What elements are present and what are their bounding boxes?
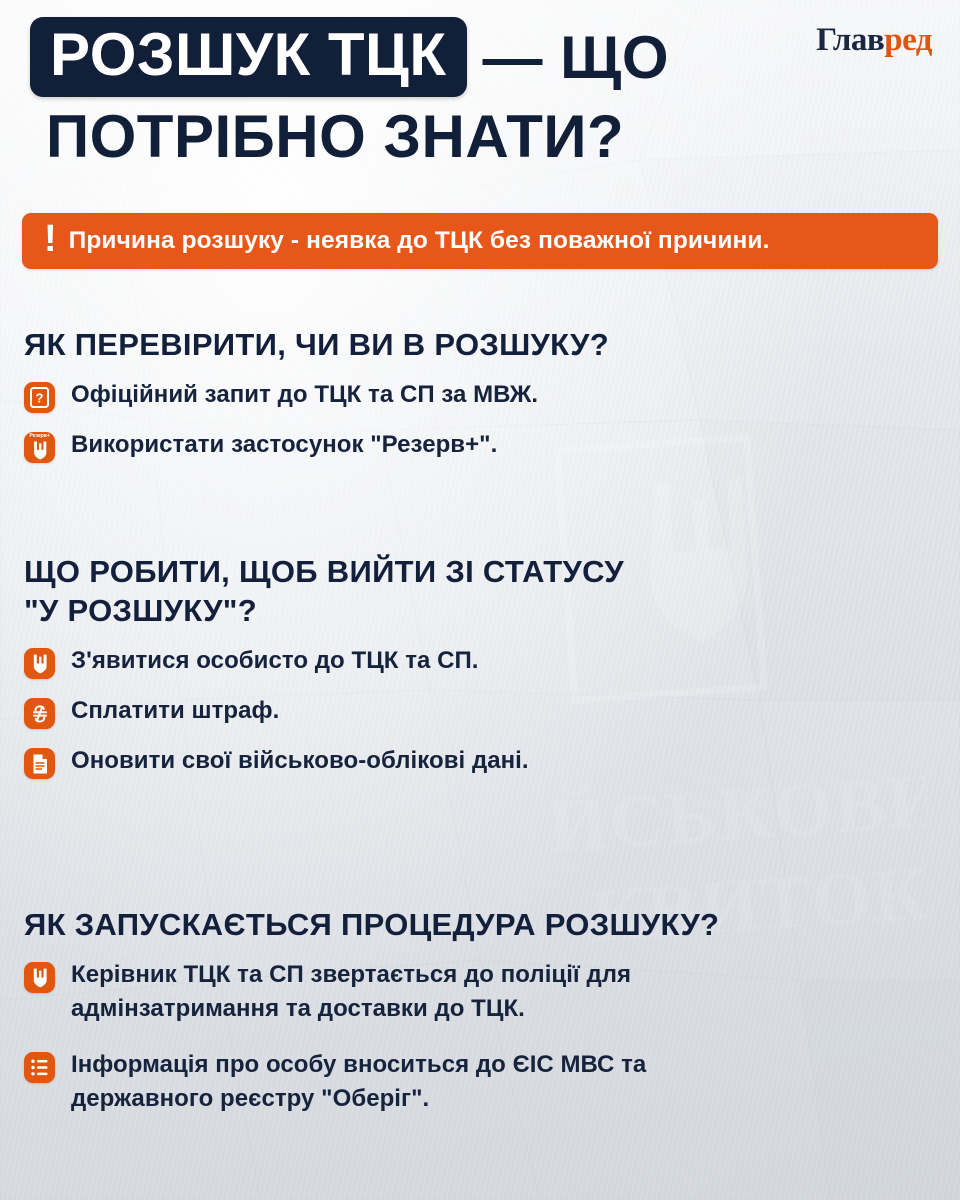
list-item-text: Сплатити штраф. <box>71 694 279 728</box>
list-item-text: Офіційний запит до ТЦК та СП за МВЖ. <box>71 378 538 412</box>
trident-icon <box>24 648 55 679</box>
hryvnia-icon <box>24 698 55 729</box>
list-item: Сплатити штраф. <box>24 694 944 729</box>
reserv-plus-app-icon: Резерв+ <box>24 432 55 463</box>
svg-text:?: ? <box>36 391 44 406</box>
list-item: Оновити свої військово-облікові дані. <box>24 744 944 779</box>
glavred-logo[interactable]: Главред <box>816 24 932 57</box>
document-icon <box>24 748 55 779</box>
infographic-poster: ЙСЬКОВИЙ КВИТОК РОЗШУК ТЦК — ЩО ПОТРІБНО… <box>0 0 960 1200</box>
list-item-text: Інформація про особу вноситься до ЄІС МВ… <box>71 1048 646 1116</box>
section-how-to-exit-status: ЩО РОБИТИ, ЩОБ ВИЙТИ ЗІ СТАТУСУ "У РОЗШУ… <box>24 552 944 794</box>
list-item-text: З'явитися особисто до ТЦК та СП. <box>71 644 479 678</box>
title-line-2: ПОТРІБНО ЗНАТИ? <box>46 105 624 168</box>
list-item-text: Оновити свої військово-облікові дані. <box>71 744 529 778</box>
reserv-plus-label: Резерв+ <box>25 434 54 439</box>
title-tail-text: — ЩО <box>483 26 669 89</box>
list-item: З'явитися особисто до ТЦК та СП. <box>24 644 944 679</box>
logo-text-dark: Глав <box>816 22 884 58</box>
section-how-procedure-starts: ЯК ЗАПУСКАЄТЬСЯ ПРОЦЕДУРА РОЗШУКУ? Керів… <box>24 905 944 1131</box>
list-item: ? Офіційний запит до ТЦК та СП за МВЖ. <box>24 378 944 413</box>
alert-text: Причина розшуку - неявка до ТЦК без пова… <box>69 227 770 255</box>
section-title: ЯК ЗАПУСКАЄТЬСЯ ПРОЦЕДУРА РОЗШУКУ? <box>24 905 944 944</box>
list-item: Інформація про особу вноситься до ЄІС МВ… <box>24 1048 944 1116</box>
logo-text-orange: ред <box>884 22 932 58</box>
reason-alert-banner: ! Причина розшуку - неявка до ТЦК без по… <box>22 213 938 269</box>
title-badge-text: РОЗШУК ТЦК <box>50 21 447 88</box>
section-how-to-check: ЯК ПЕРЕВІРИТИ, ЧИ ВИ В РОЗШУКУ? ? Офіцій… <box>24 325 944 478</box>
exclamation-icon: ! <box>44 220 57 258</box>
list-item-text: Керівник ТЦК та СП звертається до поліці… <box>71 958 631 1026</box>
list-registry-icon <box>24 1052 55 1083</box>
title-badge: РОЗШУК ТЦК <box>30 17 467 97</box>
list-item: Резерв+ Використати застосунок "Резерв+"… <box>24 428 944 463</box>
title-line-1: РОЗШУК ТЦК — ЩО <box>30 17 669 97</box>
trident-icon <box>24 962 55 993</box>
list-item-text: Використати застосунок "Резерв+". <box>71 428 497 462</box>
list-item: Керівник ТЦК та СП звертається до поліці… <box>24 958 944 1026</box>
section-title: ЯК ПЕРЕВІРИТИ, ЧИ ВИ В РОЗШУКУ? <box>24 325 944 364</box>
section-title: ЩО РОБИТИ, ЩОБ ВИЙТИ ЗІ СТАТУСУ "У РОЗШУ… <box>24 552 944 630</box>
question-mark-icon: ? <box>24 382 55 413</box>
